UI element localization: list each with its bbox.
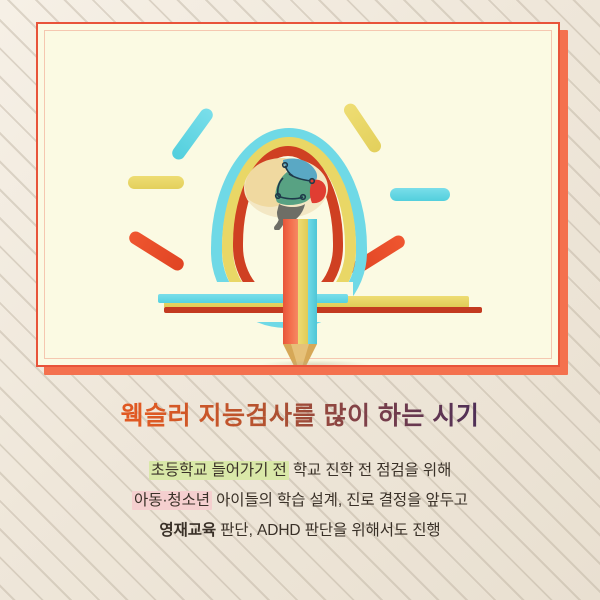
- pencil-stripe-orange: [291, 219, 298, 344]
- lightbulb-pencil-brain-illustration: [38, 24, 558, 365]
- ray-right-icon: [390, 188, 450, 201]
- desk-line-red: [164, 307, 482, 313]
- ray-left-icon: [128, 176, 184, 189]
- pencil-stripe-cyan: [308, 219, 317, 344]
- pencil-stripe-yellow: [298, 219, 308, 344]
- pencil-lead-point: [293, 365, 307, 367]
- ray-top-right-icon: [341, 101, 383, 155]
- body-line-1-highlight: 초등학교 들어가기 전: [149, 461, 289, 480]
- body-line-1: 초등학교 들어가기 전 학교 진학 전 점검을 위해: [0, 458, 600, 480]
- pencil-ground-shadow: [260, 360, 370, 367]
- page-title: 웩슬러 지능검사를 많이 하는 시기: [0, 396, 600, 432]
- illustration-card: [36, 22, 560, 367]
- body-line-1-rest: 학교 진학 전 점검을 위해: [289, 462, 452, 479]
- body-line-2-rest: 아이들의 학습 설계, 진로 결정을 앞두고: [212, 492, 468, 509]
- ray-top-left-icon: [170, 106, 216, 162]
- body-line-3-bold: 영재교육: [159, 522, 216, 539]
- pencil-icon: [283, 219, 317, 364]
- body-line-2: 아동·청소년 아이들의 학습 설계, 진로 결정을 앞두고: [0, 488, 600, 510]
- body-line-2-highlight: 아동·청소년: [132, 491, 212, 510]
- body-line-3-rest: 판단, ADHD 판단을 위해서도 진행: [216, 522, 441, 539]
- pencil-stripe-red: [283, 219, 291, 344]
- body-line-3: 영재교육 판단, ADHD 판단을 위해서도 진행: [0, 518, 600, 540]
- desk-line-cyan: [158, 294, 348, 303]
- ray-bottom-left-icon: [127, 229, 186, 273]
